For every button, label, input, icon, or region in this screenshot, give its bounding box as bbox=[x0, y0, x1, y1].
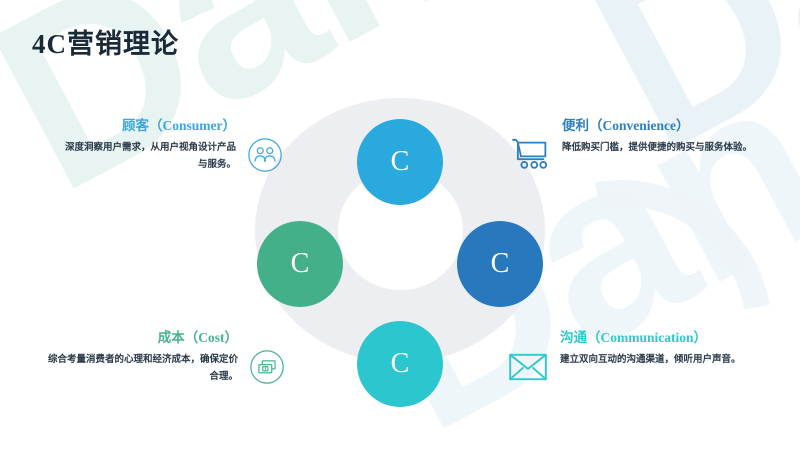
banknotes-icon bbox=[248, 348, 286, 386]
quadrant-cost-title: 成本（Cost） bbox=[42, 330, 238, 346]
quadrant-convenience-title: 便利（Convenience） bbox=[562, 118, 777, 134]
circle-node-convenience[interactable]: C bbox=[457, 221, 543, 307]
envelope-icon bbox=[508, 352, 548, 382]
quadrant-communication[interactable]: 沟通（Communication） 建立双向互动的沟通渠道，倾听用户声音。 bbox=[508, 330, 782, 382]
shopping-cart-icon bbox=[510, 136, 550, 172]
quadrant-communication-description: 建立双向互动的沟通渠道，倾听用户声音。 bbox=[560, 352, 782, 369]
two-people-icon bbox=[246, 136, 284, 174]
circle-node-cost[interactable]: C bbox=[257, 221, 343, 307]
quadrant-cost[interactable]: 成本（Cost） 综合考量消费者的心理和经济成本，确保定价合理。 bbox=[42, 330, 286, 386]
circle-node-consumer[interactable]: C bbox=[357, 119, 443, 205]
slide-4c-marketing-theory: Dan Dan Dan 4C营销理论 C C C C 顾客（Consumer） … bbox=[0, 0, 800, 450]
circle-node-letter: C bbox=[391, 148, 410, 176]
page-title: 4C营销理论 bbox=[32, 22, 179, 61]
quadrant-consumer-title: 顾客（Consumer） bbox=[58, 118, 236, 134]
quadrant-consumer-description: 深度洞察用户需求，从用户视角设计产品与服务。 bbox=[58, 140, 236, 173]
circle-node-communication[interactable]: C bbox=[357, 321, 443, 407]
quadrant-communication-text: 沟通（Communication） 建立双向互动的沟通渠道，倾听用户声音。 bbox=[560, 330, 782, 369]
quadrant-consumer-text: 顾客（Consumer） 深度洞察用户需求，从用户视角设计产品与服务。 bbox=[58, 118, 236, 173]
quadrant-convenience-description: 降低购买门槛，提供便捷的购买与服务体验。 bbox=[562, 140, 777, 157]
quadrant-cost-text: 成本（Cost） 综合考量消费者的心理和经济成本，确保定价合理。 bbox=[42, 330, 238, 385]
circle-node-letter: C bbox=[291, 250, 310, 278]
circle-node-letter: C bbox=[491, 250, 510, 278]
four-c-diagram: C C C C bbox=[300, 120, 500, 340]
quadrant-convenience[interactable]: 便利（Convenience） 降低购买门槛，提供便捷的购买与服务体验。 bbox=[510, 118, 777, 172]
quadrant-cost-description: 综合考量消费者的心理和经济成本，确保定价合理。 bbox=[42, 352, 238, 385]
quadrant-consumer[interactable]: 顾客（Consumer） 深度洞察用户需求，从用户视角设计产品与服务。 bbox=[58, 118, 284, 174]
quadrant-convenience-text: 便利（Convenience） 降低购买门槛，提供便捷的购买与服务体验。 bbox=[562, 118, 777, 157]
quadrant-communication-title: 沟通（Communication） bbox=[560, 330, 782, 346]
circle-node-letter: C bbox=[391, 350, 410, 378]
